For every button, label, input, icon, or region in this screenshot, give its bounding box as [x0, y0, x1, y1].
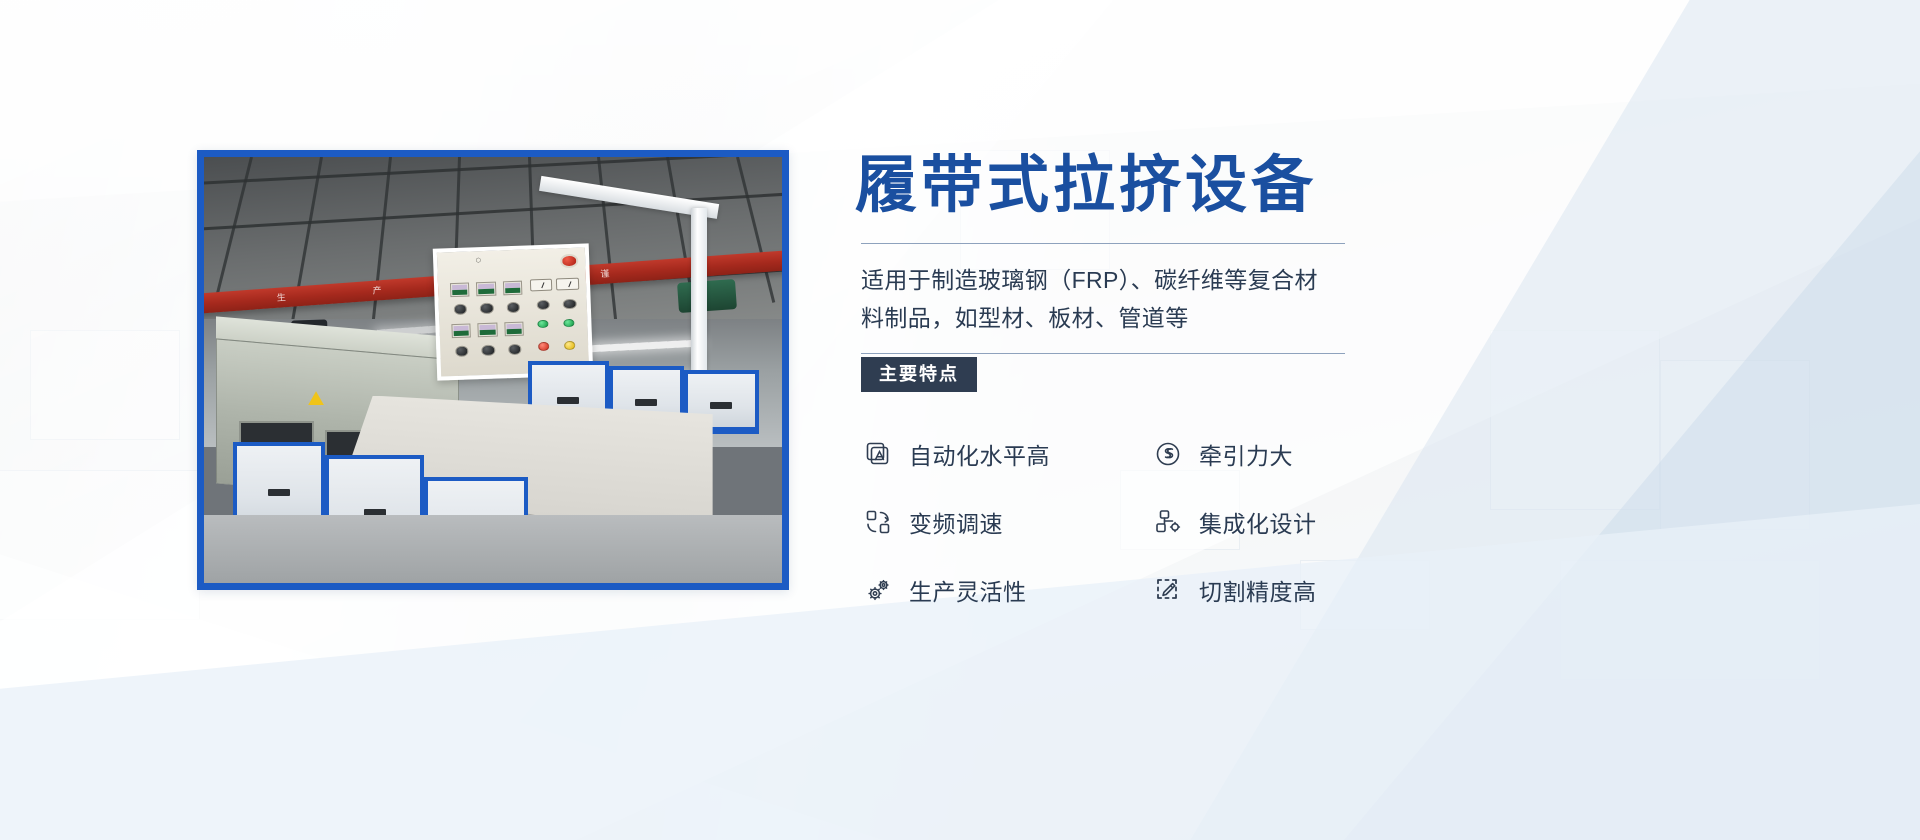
- product-banner: 生 产 严 谨 ⬡: [0, 0, 1920, 840]
- status-badge: 主要特点: [861, 357, 977, 392]
- badge-divider: [861, 353, 1345, 354]
- feature-label: 集成化设计: [1199, 505, 1317, 539]
- feature-label: 切割精度高: [1199, 573, 1317, 607]
- feature-label: 生产灵活性: [909, 573, 1027, 607]
- double-gear-icon: [863, 575, 893, 605]
- feature-list: 自动化水平高 牵引力大: [863, 437, 1495, 607]
- feature-item[interactable]: 生产灵活性: [863, 573, 1153, 607]
- feature-item[interactable]: 变频调速: [863, 505, 1153, 539]
- feature-item[interactable]: 切割精度高: [1153, 573, 1443, 607]
- subtitle-line-1: 适用于制造玻璃钢（FRP）、碳纤维等复合材: [861, 262, 1351, 299]
- factory-floor: [204, 515, 782, 583]
- badge-row: 主要特点: [861, 353, 1345, 391]
- emergency-stop-button: [560, 254, 578, 268]
- factory-scene: 生 产 严 谨 ⬡: [204, 157, 782, 583]
- feature-label: 变频调速: [909, 505, 1003, 539]
- page-title: 履带式拉挤设备: [855, 150, 1495, 221]
- feature-item[interactable]: 集成化设计: [1153, 505, 1443, 539]
- panel-brand-label: ⬡: [476, 258, 482, 265]
- integration-gear-icon: [1153, 507, 1183, 537]
- feature-item[interactable]: 自动化水平高: [863, 437, 1153, 471]
- text-frame-icon: [863, 439, 893, 469]
- subtitle-line-2: 料制品，如型材、板材、管道等: [861, 300, 1351, 337]
- feature-label: 自动化水平高: [909, 437, 1050, 471]
- product-photo: 生 产 严 谨 ⬡: [197, 150, 789, 590]
- feature-label: 牵引力大: [1199, 437, 1293, 471]
- title-divider: [861, 243, 1345, 244]
- frequency-nodes-icon: [863, 507, 893, 537]
- traction-wave-icon: [1153, 439, 1183, 469]
- precision-cut-icon: [1153, 575, 1183, 605]
- banner-content: 履带式拉挤设备 适用于制造玻璃钢（FRP）、碳纤维等复合材 料制品，如型材、板材…: [855, 150, 1495, 607]
- subtitle: 适用于制造玻璃钢（FRP）、碳纤维等复合材 料制品，如型材、板材、管道等: [861, 262, 1351, 337]
- feature-item[interactable]: 牵引力大: [1153, 437, 1443, 471]
